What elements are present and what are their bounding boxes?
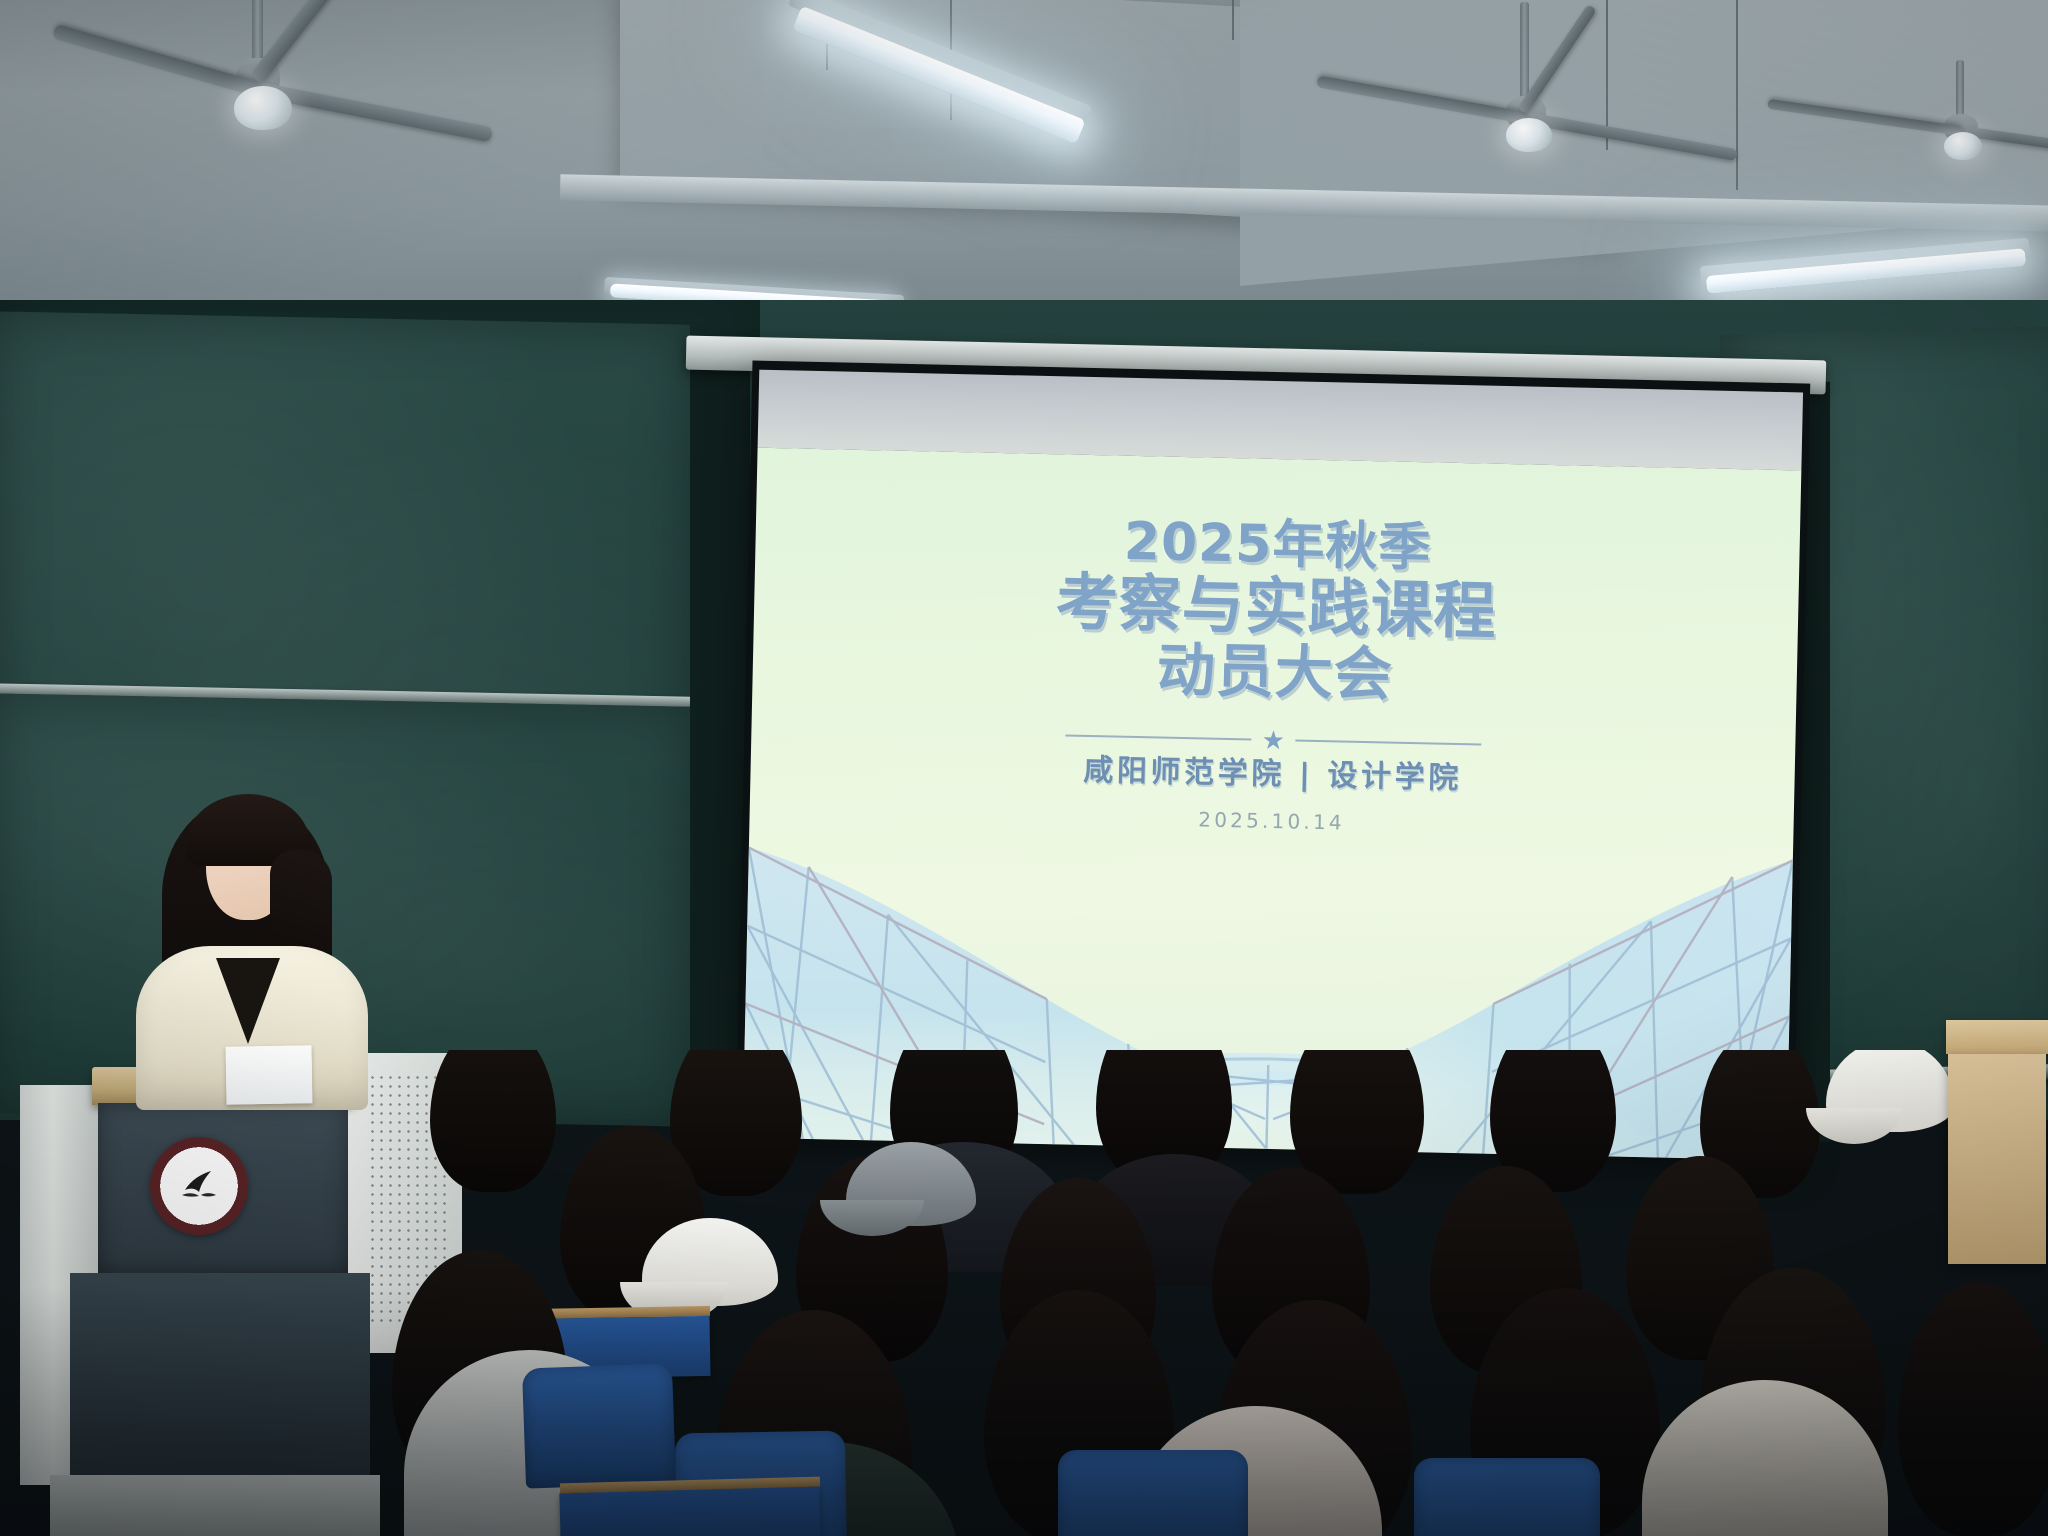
presenter — [120, 770, 380, 1090]
divider-line-right — [1295, 739, 1481, 745]
audience-head — [1898, 1282, 2048, 1536]
ceiling-fan-center — [1190, 60, 1710, 220]
seat-back — [1058, 1450, 1248, 1536]
side-table — [1946, 1020, 2048, 1054]
side-table-leg — [1948, 1054, 2046, 1264]
seat-back — [522, 1363, 676, 1488]
fan-blade — [1767, 99, 1962, 136]
classroom-photo-scene: 2025年秋季 考察与实践课程 动员大会 ★ 咸阳师范学院 | 设计学院 202… — [0, 0, 2048, 1536]
fan-rod — [1520, 2, 1529, 100]
ceiling-fan-right — [1690, 88, 2048, 228]
slide-title: 2025年秋季 考察与实践课程 动员大会 — [752, 506, 1800, 717]
fan-rod — [252, 0, 263, 64]
seat-back — [1414, 1458, 1600, 1536]
fan-blade — [250, 0, 348, 84]
fan-light-globe — [1506, 118, 1552, 152]
fan-rod — [1956, 60, 1964, 118]
fan-cord-right — [1232, 0, 1234, 40]
fan-light-globe — [234, 86, 292, 130]
ceiling-fan-left — [110, 0, 630, 180]
divider-line-left — [1066, 734, 1252, 740]
audience-head — [430, 1050, 556, 1192]
presenter-inner-top — [216, 958, 280, 1044]
fan-blade — [1316, 75, 1527, 124]
fan-blade — [257, 82, 493, 142]
cap-brim-right — [1806, 1108, 1902, 1144]
projection-screen: 2025年秋季 考察与实践课程 动员大会 ★ 咸阳师范学院 | 设计学院 202… — [736, 361, 1811, 1152]
fan-light-globe — [1944, 132, 1982, 160]
desk-row-front — [559, 1487, 820, 1536]
audience-seating — [0, 1050, 2048, 1536]
